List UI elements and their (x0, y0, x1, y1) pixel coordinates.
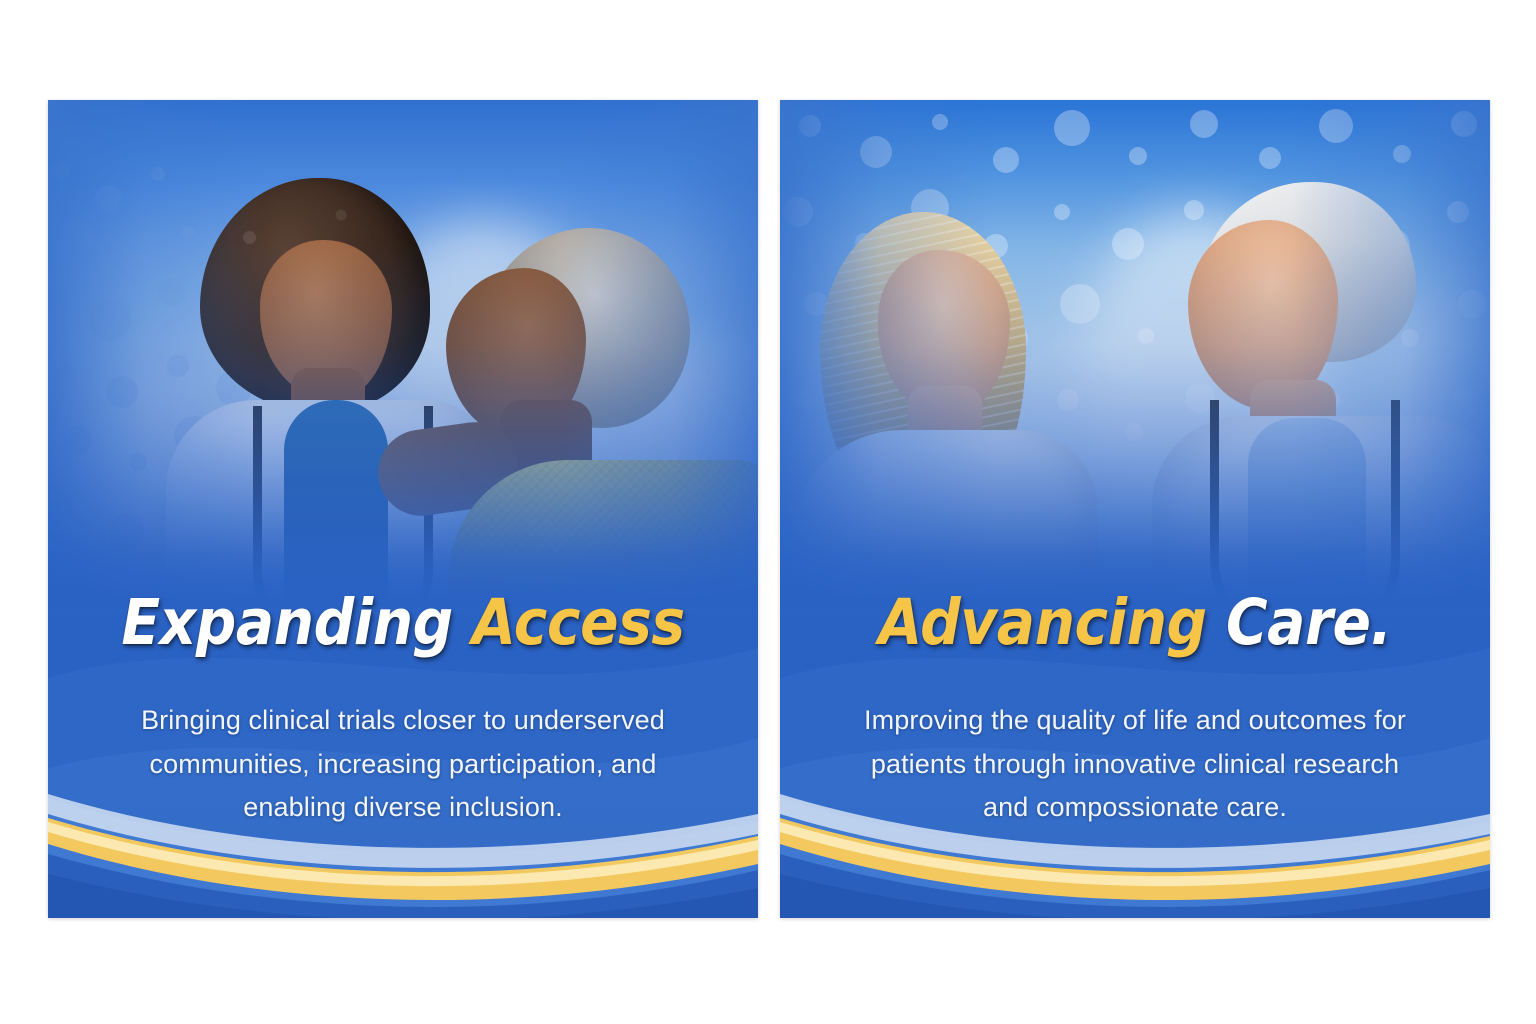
headline-part-white: Care. (1226, 586, 1392, 659)
wave-decoration (48, 778, 758, 918)
photo-blue-fade (780, 242, 1490, 607)
poster-stage: Expanding Access Bringing clinical trial… (0, 0, 1536, 1024)
card-expanding-access[interactable]: Expanding Access Bringing clinical trial… (48, 100, 758, 918)
headline-part-gold: Access (472, 586, 685, 659)
card-headline: Expanding Access (114, 591, 692, 655)
wave-decoration (780, 778, 1490, 918)
card-headline: Advancing Care. (846, 591, 1424, 655)
headline-part-white: Expanding (121, 586, 452, 659)
headline-part-gold: Advancing (878, 586, 1206, 659)
card-advancing-care[interactable]: Advancing Care. Improving the quality of… (780, 100, 1490, 918)
card-photo-expanding-access (48, 100, 758, 607)
card-photo-advancing-care (780, 100, 1490, 607)
photo-blue-fade (48, 242, 758, 607)
